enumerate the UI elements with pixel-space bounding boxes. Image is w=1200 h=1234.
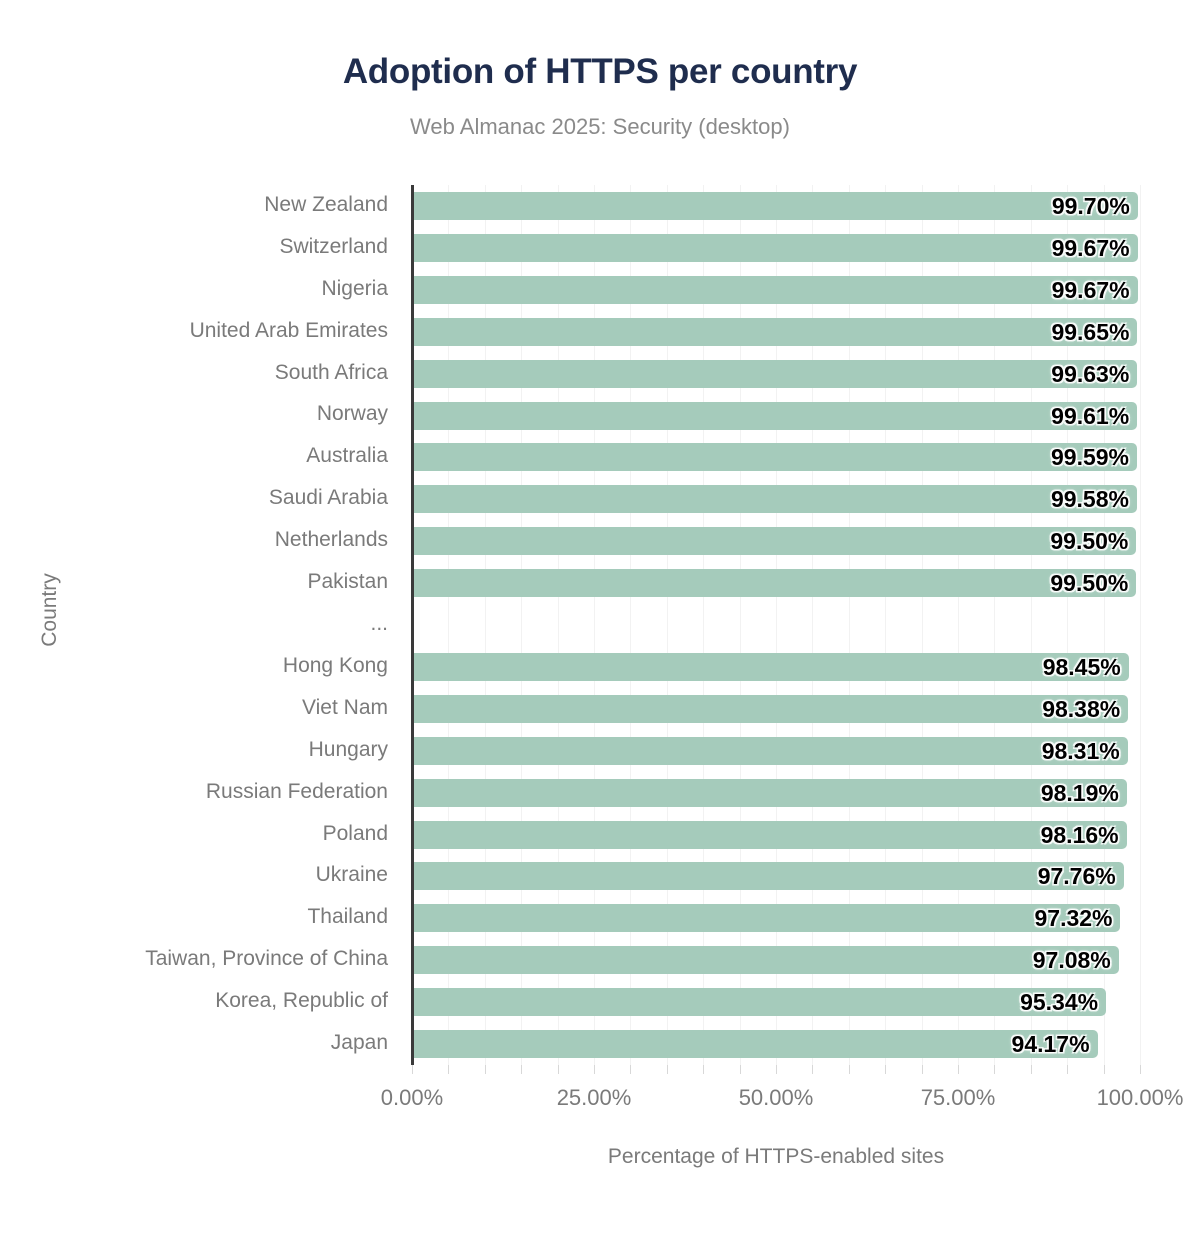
bar[interactable] — [412, 318, 1137, 346]
bar-row[interactable]: 99.59% — [412, 436, 1140, 478]
y-axis-title: Country — [38, 550, 62, 670]
x-axis-tick-mark — [1104, 1065, 1105, 1074]
bar-value-label: 95.34% — [1020, 988, 1098, 1016]
y-axis-tick-label: Ukraine — [0, 863, 400, 887]
bar[interactable] — [412, 695, 1128, 723]
bar-value-label: 98.19% — [1041, 779, 1119, 807]
gridline — [1140, 185, 1141, 1065]
bar[interactable] — [412, 485, 1137, 513]
x-axis-tick-mark — [812, 1065, 813, 1074]
bar[interactable] — [412, 276, 1138, 304]
bar-value-label: 99.65% — [1051, 318, 1129, 346]
bar-row[interactable]: 94.17% — [412, 1023, 1140, 1065]
bar-row[interactable]: 98.16% — [412, 814, 1140, 856]
bar-value-label: 94.17% — [1012, 1030, 1090, 1058]
bar[interactable] — [412, 1030, 1098, 1058]
y-axis-tick-label: New Zealand — [0, 193, 400, 217]
y-axis-tick-label: Japan — [0, 1031, 400, 1055]
bar[interactable] — [412, 946, 1119, 974]
bar[interactable] — [412, 904, 1120, 932]
x-axis-tick-mark — [412, 1065, 413, 1074]
bar-row[interactable]: 99.61% — [412, 395, 1140, 437]
x-axis-tick-mark — [994, 1065, 995, 1074]
y-axis-tick-label: South Africa — [0, 361, 400, 385]
x-axis-tick-mark — [521, 1065, 522, 1074]
bar-row[interactable]: 97.32% — [412, 897, 1140, 939]
y-axis-tick-label: Australia — [0, 444, 400, 468]
bar[interactable] — [412, 653, 1129, 681]
x-axis: 0.00%25.00%50.00%75.00%100.00% — [412, 1065, 1140, 1066]
x-axis-tick-label: 75.00% — [878, 1085, 1038, 1111]
y-axis-tick-label: Taiwan, Province of China — [0, 947, 400, 971]
bar[interactable] — [412, 402, 1137, 430]
bar-row[interactable]: 98.38% — [412, 688, 1140, 730]
bar-value-label: 99.59% — [1051, 443, 1129, 471]
x-axis-tick-mark — [630, 1065, 631, 1074]
y-axis-tick-label: Norway — [0, 402, 400, 426]
bar[interactable] — [412, 862, 1124, 890]
bar-row[interactable] — [412, 604, 1140, 646]
bar-value-label: 99.58% — [1051, 485, 1129, 513]
x-axis-tick-label: 0.00% — [332, 1085, 492, 1111]
x-axis-tick-label: 100.00% — [1060, 1085, 1200, 1111]
bar-row[interactable]: 97.76% — [412, 855, 1140, 897]
x-axis-tick-mark — [703, 1065, 704, 1074]
bar-value-label: 97.76% — [1038, 862, 1116, 890]
x-axis-tick-mark — [667, 1065, 668, 1074]
bar-value-label: 98.38% — [1042, 695, 1120, 723]
bar[interactable] — [412, 360, 1137, 388]
bar-row[interactable]: 99.50% — [412, 562, 1140, 604]
bar[interactable] — [412, 234, 1138, 262]
x-axis-tick-mark — [594, 1065, 595, 1074]
y-axis-tick-label: Switzerland — [0, 235, 400, 259]
https-adoption-bar-chart: Adoption of HTTPS per country Web Almana… — [0, 0, 1200, 1234]
bar-row[interactable]: 98.45% — [412, 646, 1140, 688]
bar-value-label: 99.50% — [1050, 569, 1128, 597]
x-axis-tick-label: 25.00% — [514, 1085, 674, 1111]
x-axis-tick-mark — [885, 1065, 886, 1074]
bar-row[interactable]: 98.19% — [412, 772, 1140, 814]
bar-value-label: 99.67% — [1052, 234, 1130, 262]
x-axis-tick-label: 50.00% — [696, 1085, 856, 1111]
y-axis-tick-label: Saudi Arabia — [0, 486, 400, 510]
y-axis-tick-label: Viet Nam — [0, 696, 400, 720]
bar-row[interactable]: 99.67% — [412, 227, 1140, 269]
bar-row[interactable]: 99.58% — [412, 478, 1140, 520]
bar-row[interactable]: 98.31% — [412, 730, 1140, 772]
y-axis-tick-label: Poland — [0, 822, 400, 846]
x-axis-tick-mark — [922, 1065, 923, 1074]
bar-value-label: 98.45% — [1043, 653, 1121, 681]
bar-value-label: 99.70% — [1052, 192, 1130, 220]
x-axis-tick-mark — [485, 1065, 486, 1074]
bar-value-label: 97.08% — [1033, 946, 1111, 974]
x-axis-tick-mark — [849, 1065, 850, 1074]
chart-title: Adoption of HTTPS per country — [0, 52, 1200, 92]
x-axis-tick-mark — [1067, 1065, 1068, 1074]
bar-value-label: 99.61% — [1051, 402, 1129, 430]
bar[interactable] — [412, 737, 1128, 765]
x-axis-tick-mark — [958, 1065, 959, 1074]
bar[interactable] — [412, 779, 1127, 807]
bar[interactable] — [412, 443, 1137, 471]
bar-row[interactable]: 99.67% — [412, 269, 1140, 311]
bar[interactable] — [412, 527, 1136, 555]
bar-value-label: 98.31% — [1042, 737, 1120, 765]
y-axis-tick-label: United Arab Emirates — [0, 319, 400, 343]
bar-value-label: 99.63% — [1051, 360, 1129, 388]
bar-row[interactable]: 99.70% — [412, 185, 1140, 227]
y-axis-tick-label: Nigeria — [0, 277, 400, 301]
x-axis-title: Percentage of HTTPS-enabled sites — [412, 1145, 1140, 1169]
bar-row[interactable]: 99.63% — [412, 353, 1140, 395]
bar-row[interactable]: 97.08% — [412, 939, 1140, 981]
plot-area: 99.70%99.67%99.67%99.65%99.63%99.61%99.5… — [412, 185, 1140, 1065]
y-axis-tick-label: Thailand — [0, 905, 400, 929]
bar[interactable] — [412, 821, 1127, 849]
y-axis-domain-line — [411, 185, 414, 1065]
bar-value-label: 99.50% — [1050, 527, 1128, 555]
bar-value-label: 98.16% — [1041, 821, 1119, 849]
x-axis-tick-mark — [776, 1065, 777, 1074]
bar-row[interactable]: 99.65% — [412, 311, 1140, 353]
x-axis-tick-mark — [1140, 1065, 1141, 1074]
x-axis-tick-mark — [558, 1065, 559, 1074]
bar[interactable] — [412, 569, 1136, 597]
x-axis-tick-mark — [448, 1065, 449, 1074]
bar[interactable] — [412, 192, 1138, 220]
y-axis-tick-label: Russian Federation — [0, 780, 400, 804]
y-axis-tick-label: Korea, Republic of — [0, 989, 400, 1013]
chart-subtitle: Web Almanac 2025: Security (desktop) — [0, 114, 1200, 140]
bar[interactable] — [412, 988, 1106, 1016]
x-axis-tick-mark — [1031, 1065, 1032, 1074]
y-axis-tick-label: Netherlands — [0, 528, 400, 552]
x-axis-tick-mark — [740, 1065, 741, 1074]
bar-row[interactable]: 99.50% — [412, 520, 1140, 562]
bar-value-label: 99.67% — [1052, 276, 1130, 304]
y-axis-tick-label: Hungary — [0, 738, 400, 762]
bar-value-label: 97.32% — [1034, 904, 1112, 932]
bar-row[interactable]: 95.34% — [412, 981, 1140, 1023]
